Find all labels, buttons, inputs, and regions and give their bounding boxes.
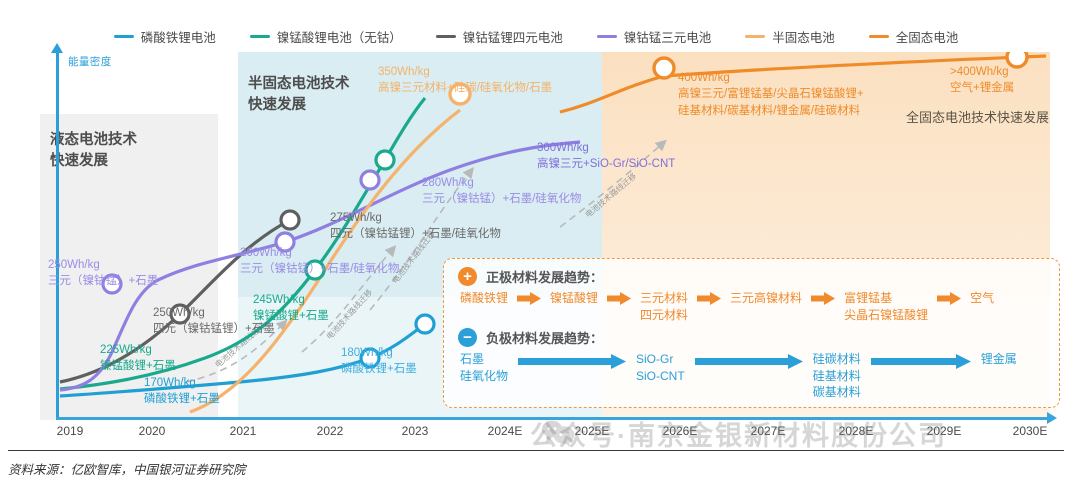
- legend-label-all-solid: 全固态电池: [896, 27, 959, 46]
- cathode-item-5-l1: 空气: [970, 291, 994, 305]
- anode-item-3-l1: 锂金属: [981, 352, 1017, 366]
- arrow-right-icon: [811, 290, 835, 310]
- cathode-item-1: 镍锰酸锂: [550, 290, 598, 307]
- annotation-300-value: 300Wh/kg: [537, 140, 675, 156]
- minus-icon: −: [458, 328, 477, 347]
- anode-item-2-l2: 硅基材料: [813, 369, 861, 383]
- x-tick-2020: 2020: [139, 424, 166, 438]
- anode-item-1-l2: SiO-CNT: [636, 369, 685, 383]
- arrow-right-long-icon: [871, 351, 971, 374]
- legend-swatch-lfp: [114, 35, 134, 38]
- point-quaternary-275: [281, 211, 299, 229]
- annotation-170: 170Wh/kg 磷酸铁锂+石墨: [144, 375, 220, 408]
- legend-item-lnmo: 镍锰酸锂电池（无钴）: [250, 27, 402, 46]
- annotation-400-value: 400Wh/kg: [678, 70, 864, 86]
- annotation-245: 245Wh/kg 镍锰酸锂+石墨: [253, 292, 329, 325]
- legend-swatch-lnmo: [250, 35, 270, 38]
- legend-label-quaternary: 镍钴锰锂四元电池: [463, 27, 563, 46]
- annotation-275: 275Wh/kg 四元（镍钴锰锂）+石墨/硅氧化物: [330, 210, 501, 243]
- anode-item-0: 石墨 硅氧化物: [460, 351, 508, 384]
- annotation-350: 350Wh/kg 高镍三元材料+硅碳/硅氧化物/石墨: [378, 64, 552, 97]
- chart-legend: 磷酸铁锂电池 镍锰酸锂电池（无钴） 镍钴锰锂四元电池 镍钴锰三元电池 半固态电池…: [0, 24, 1072, 48]
- annotation-180-value: 180Wh/kg: [341, 345, 417, 361]
- annotation-400plus: >400Wh/kg 空气+锂金属: [950, 64, 1014, 97]
- anode-chain: 石墨 硅氧化物 SiO-Gr SiO-CNT 硅碳材料 硅基材料 碳基材料 锂金…: [444, 347, 1059, 401]
- cathode-item-3: 三元高镍材料: [730, 290, 802, 307]
- annotation-260: 260Wh/kg 三元（镍钴锰）+石墨/硅氧化物: [240, 245, 399, 278]
- annotation-260-material: 三元（镍钴锰）+石墨/硅氧化物: [240, 261, 399, 277]
- annotation-170-material: 磷酸铁锂+石墨: [144, 391, 220, 407]
- legend-swatch-ncm: [597, 35, 617, 38]
- annotation-225: 225Wh/kg 镍锰酸锂+石墨: [100, 342, 176, 375]
- annotation-250-ncm-value: 250Wh/kg: [48, 257, 158, 273]
- cathode-item-4-l1: 富锂锰基: [844, 291, 892, 305]
- annotation-245-value: 245Wh/kg: [253, 292, 329, 308]
- legend-swatch-semi-solid: [745, 35, 765, 38]
- annotation-250-ncm-material: 三元（镍钴锰）+石墨: [48, 273, 158, 289]
- cathode-chain: 磷酸铁锂 镍锰酸锂 三元材料 四元材料 三元高镍材料 富锂锰基 尖晶石镍锰酸锂: [444, 286, 1059, 323]
- annotation-400-material2: 硅基材料/碳基材料/锂金属/硅碳材料: [678, 103, 864, 119]
- legend-item-semi-solid: 半固态电池: [745, 27, 835, 46]
- annotation-275-value: 275Wh/kg: [330, 210, 501, 226]
- migration-text-4: 电池技术路线迁移: [583, 171, 638, 220]
- cathode-item-0-l1: 磷酸铁锂: [460, 291, 508, 305]
- cathode-item-2-l2: 四元材料: [640, 308, 688, 322]
- anode-trend-header: − 负极材料发展趋势：: [444, 323, 1059, 347]
- legend-item-lfp: 磷酸铁锂电池: [114, 27, 216, 46]
- cathode-item-2: 三元材料 四元材料: [640, 290, 688, 323]
- legend-label-ncm: 镍钴锰三元电池: [624, 27, 712, 46]
- arrow-right-icon: [607, 290, 631, 310]
- annotation-250-ncm: 250Wh/kg 三元（镍钴锰）+石墨: [48, 257, 158, 290]
- annotation-180-material: 磷酸铁锂+石墨: [341, 361, 417, 377]
- anode-item-1: SiO-Gr SiO-CNT: [636, 351, 685, 384]
- annotation-280-value: 280Wh/kg: [422, 175, 581, 191]
- arrow-right-icon: [697, 290, 721, 310]
- x-tick-2024e: 2024E: [488, 424, 523, 438]
- cathode-item-0: 磷酸铁锂: [460, 290, 508, 307]
- annotation-300: 300Wh/kg 高镍三元+SiO-Gr/SiO-CNT: [537, 140, 675, 173]
- legend-swatch-all-solid: [869, 35, 889, 38]
- cathode-item-5: 空气: [970, 290, 994, 307]
- legend-label-lnmo: 镍锰酸锂电池（无钴）: [277, 27, 402, 46]
- material-trend-box: + 正极材料发展趋势： 磷酸铁锂 镍锰酸锂 三元材料 四元材料 三元高镍材料 富: [443, 258, 1060, 408]
- annotation-400: 400Wh/kg 高镍三元/富锂锰基/尖晶石镍锰酸锂+ 硅基材料/碳基材料/锂金…: [678, 70, 864, 119]
- annotation-245-material: 镍锰酸锂+石墨: [253, 308, 329, 324]
- legend-item-all-solid: 全固态电池: [869, 27, 959, 46]
- x-tick-2027e: 2027E: [751, 424, 786, 438]
- x-tick-2019: 2019: [57, 424, 84, 438]
- anode-item-3: 锂金属: [981, 351, 1017, 368]
- annotation-170-value: 170Wh/kg: [144, 375, 220, 391]
- arrow-right-long-icon: [695, 351, 803, 374]
- annotation-350-value: 350Wh/kg: [378, 64, 552, 80]
- legend-item-quaternary: 镍钴锰锂四元电池: [436, 27, 563, 46]
- x-tick-2025e: 2025E: [575, 424, 610, 438]
- annotation-400-material1: 高镍三元/富锂锰基/尖晶石镍锰酸锂+: [678, 86, 864, 102]
- anode-trend-title: 负极材料发展趋势：: [486, 328, 603, 347]
- x-tick-2029e: 2029E: [927, 424, 962, 438]
- cathode-item-4: 富锂锰基 尖晶石镍锰酸锂: [844, 290, 928, 323]
- anode-item-2-l3: 碳基材料: [813, 385, 861, 399]
- anode-item-2: 硅碳材料 硅基材料 碳基材料: [813, 351, 861, 401]
- cathode-item-1-l1: 镍锰酸锂: [550, 291, 598, 305]
- point-lnmo-245: [376, 151, 394, 169]
- plus-icon: +: [458, 267, 477, 286]
- x-tick-2030e: 2030E: [1013, 424, 1048, 438]
- annotation-225-value: 225Wh/kg: [100, 342, 176, 358]
- x-axis-ticks: 2019 2020 2021 2022 2023 2024E 2025E 202…: [40, 424, 1050, 442]
- point-lfp-180: [416, 315, 434, 333]
- annotation-275-material: 四元（镍钴锰锂）+石墨/硅氧化物: [330, 226, 501, 242]
- arrow-right-long-icon: [518, 351, 626, 374]
- annotation-400plus-material: 空气+锂金属: [950, 80, 1014, 96]
- annotation-350-material: 高镍三元材料+硅碳/硅氧化物/石墨: [378, 80, 552, 96]
- cathode-item-4-l2: 尖晶石镍锰酸锂: [844, 308, 928, 322]
- x-tick-2022: 2022: [317, 424, 344, 438]
- migration-text-2: 电池技术路线迁移: [324, 287, 374, 341]
- anode-item-0-l1: 石墨: [460, 352, 484, 366]
- source-note: 资料来源：亿欧智库，中国银河证券研究院: [8, 459, 246, 478]
- anode-item-1-l1: SiO-Gr: [636, 352, 673, 366]
- cathode-trend-title: 正极材料发展趋势：: [486, 267, 603, 286]
- legend-label-semi-solid: 半固态电池: [772, 27, 835, 46]
- point-ncm-280: [361, 171, 379, 189]
- x-tick-2028e: 2028E: [839, 424, 874, 438]
- x-tick-2023: 2023: [402, 424, 429, 438]
- footer-divider: [8, 450, 1064, 451]
- annotation-400plus-value: >400Wh/kg: [950, 64, 1014, 80]
- cathode-trend-header: + 正极材料发展趋势：: [444, 259, 1059, 286]
- x-tick-2021: 2021: [230, 424, 257, 438]
- legend-label-lfp: 磷酸铁锂电池: [141, 27, 216, 46]
- legend-swatch-quaternary: [436, 35, 456, 38]
- annotation-280-material: 三元（镍钴锰）+石墨/硅氧化物: [422, 191, 581, 207]
- annotation-280: 280Wh/kg 三元（镍钴锰）+石墨/硅氧化物: [422, 175, 581, 208]
- annotation-225-material: 镍锰酸锂+石墨: [100, 358, 176, 374]
- anode-item-2-l1: 硅碳材料: [813, 352, 861, 366]
- cathode-item-3-l1: 三元高镍材料: [730, 291, 802, 305]
- point-solid-400: [654, 58, 674, 78]
- annotation-260-value: 260Wh/kg: [240, 245, 399, 261]
- anode-item-0-l2: 硅氧化物: [460, 369, 508, 383]
- x-tick-2026e: 2026E: [663, 424, 698, 438]
- annotation-180: 180Wh/kg 磷酸铁锂+石墨: [341, 345, 417, 378]
- legend-item-ncm: 镍钴锰三元电池: [597, 27, 712, 46]
- annotation-300-material: 高镍三元+SiO-Gr/SiO-CNT: [537, 156, 675, 172]
- arrow-right-icon: [937, 290, 961, 310]
- arrow-right-icon: [517, 290, 541, 310]
- cathode-item-2-l1: 三元材料: [640, 291, 688, 305]
